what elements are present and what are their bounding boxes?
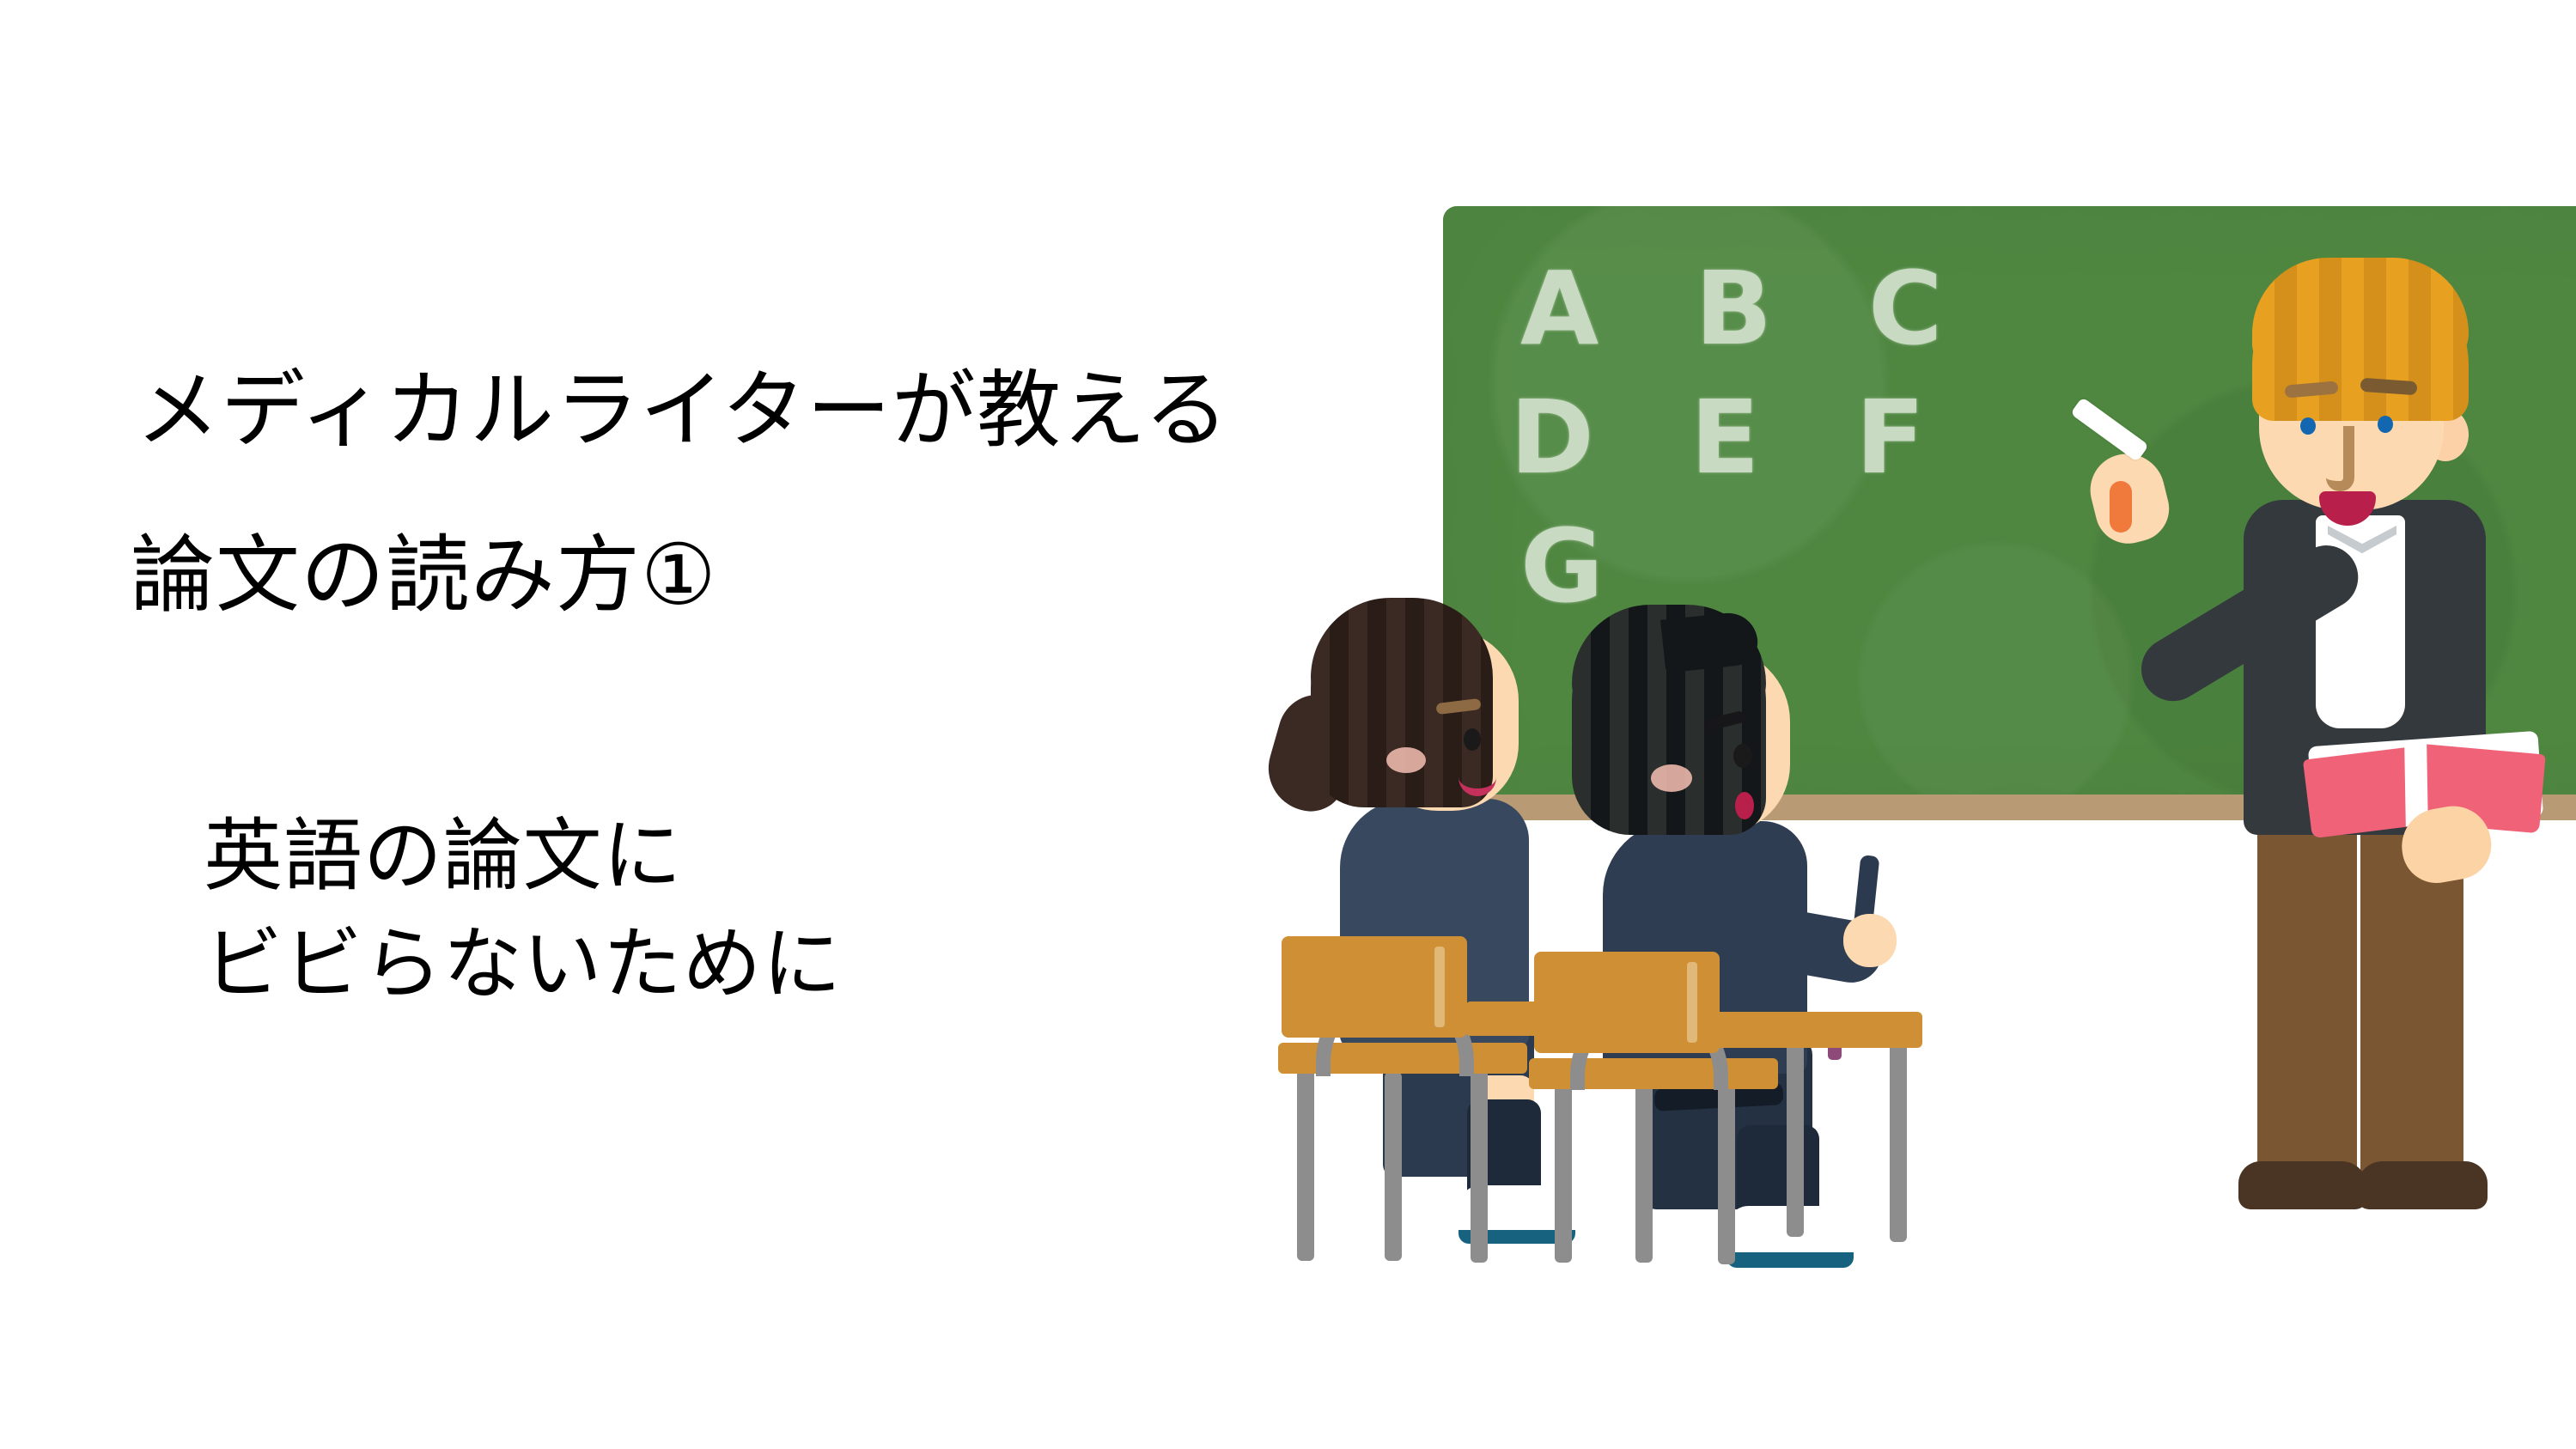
chair1-back-highlight — [1434, 947, 1445, 1027]
title-line-2: 論文の読み方① — [131, 507, 717, 629]
desk2-leg-2 — [1635, 1084, 1653, 1263]
teacher-shoe-right — [2357, 1161, 2488, 1209]
chair2-back-highlight — [1687, 962, 1697, 1043]
teacher-leg-left — [2257, 814, 2357, 1184]
title-line-1: メディカルライターが教える — [136, 342, 1229, 464]
student-girl-figure — [1280, 584, 1555, 1271]
teacher-shoe-left — [2238, 1161, 2367, 1209]
classroom-illustration: A B C D E F G — [1271, 103, 2576, 1331]
desk2-leg-3 — [1718, 1077, 1735, 1264]
chalk-text-row-2: D E F — [1510, 387, 1955, 488]
chalk-text-row-1: A B C — [1520, 258, 1973, 359]
girl-eye — [1464, 728, 1481, 751]
subtitle-line-1: 英語の論文に — [204, 792, 683, 906]
desk1-leg-3 — [1471, 1063, 1488, 1263]
teacher-eye-right — [2378, 416, 2393, 433]
boy-mouth — [1735, 792, 1754, 819]
desk2-leg-1 — [1555, 1077, 1572, 1263]
desk2-top — [1711, 1012, 1922, 1048]
teacher-hair-front — [2252, 258, 2469, 368]
slide-canvas: メディカルライターが教える 論文の読み方① 英語の論文に ビビらないために A … — [0, 0, 2576, 1449]
desk1-leg-1 — [1297, 1063, 1314, 1261]
teacher-hand-fingers — [2110, 481, 2132, 533]
boy-hand — [1843, 914, 1897, 967]
boy-cheek-blush — [1651, 764, 1692, 792]
teacher-nose — [2326, 426, 2354, 491]
teacher-eye-left — [2300, 417, 2316, 435]
text-block: メディカルライターが教える 論文の読み方① 英語の論文に ビビらないために — [0, 0, 1417, 1449]
desk1-leg-2 — [1385, 1072, 1402, 1261]
desk2-far-leg-2 — [1890, 1039, 1907, 1242]
desk2-far-leg-1 — [1787, 1039, 1804, 1237]
teacher-figure — [2147, 258, 2508, 1271]
subtitle-line-2: ビビらないために — [204, 900, 842, 1014]
boy-eye — [1733, 744, 1752, 768]
girl-cheek-blush — [1386, 747, 1426, 773]
